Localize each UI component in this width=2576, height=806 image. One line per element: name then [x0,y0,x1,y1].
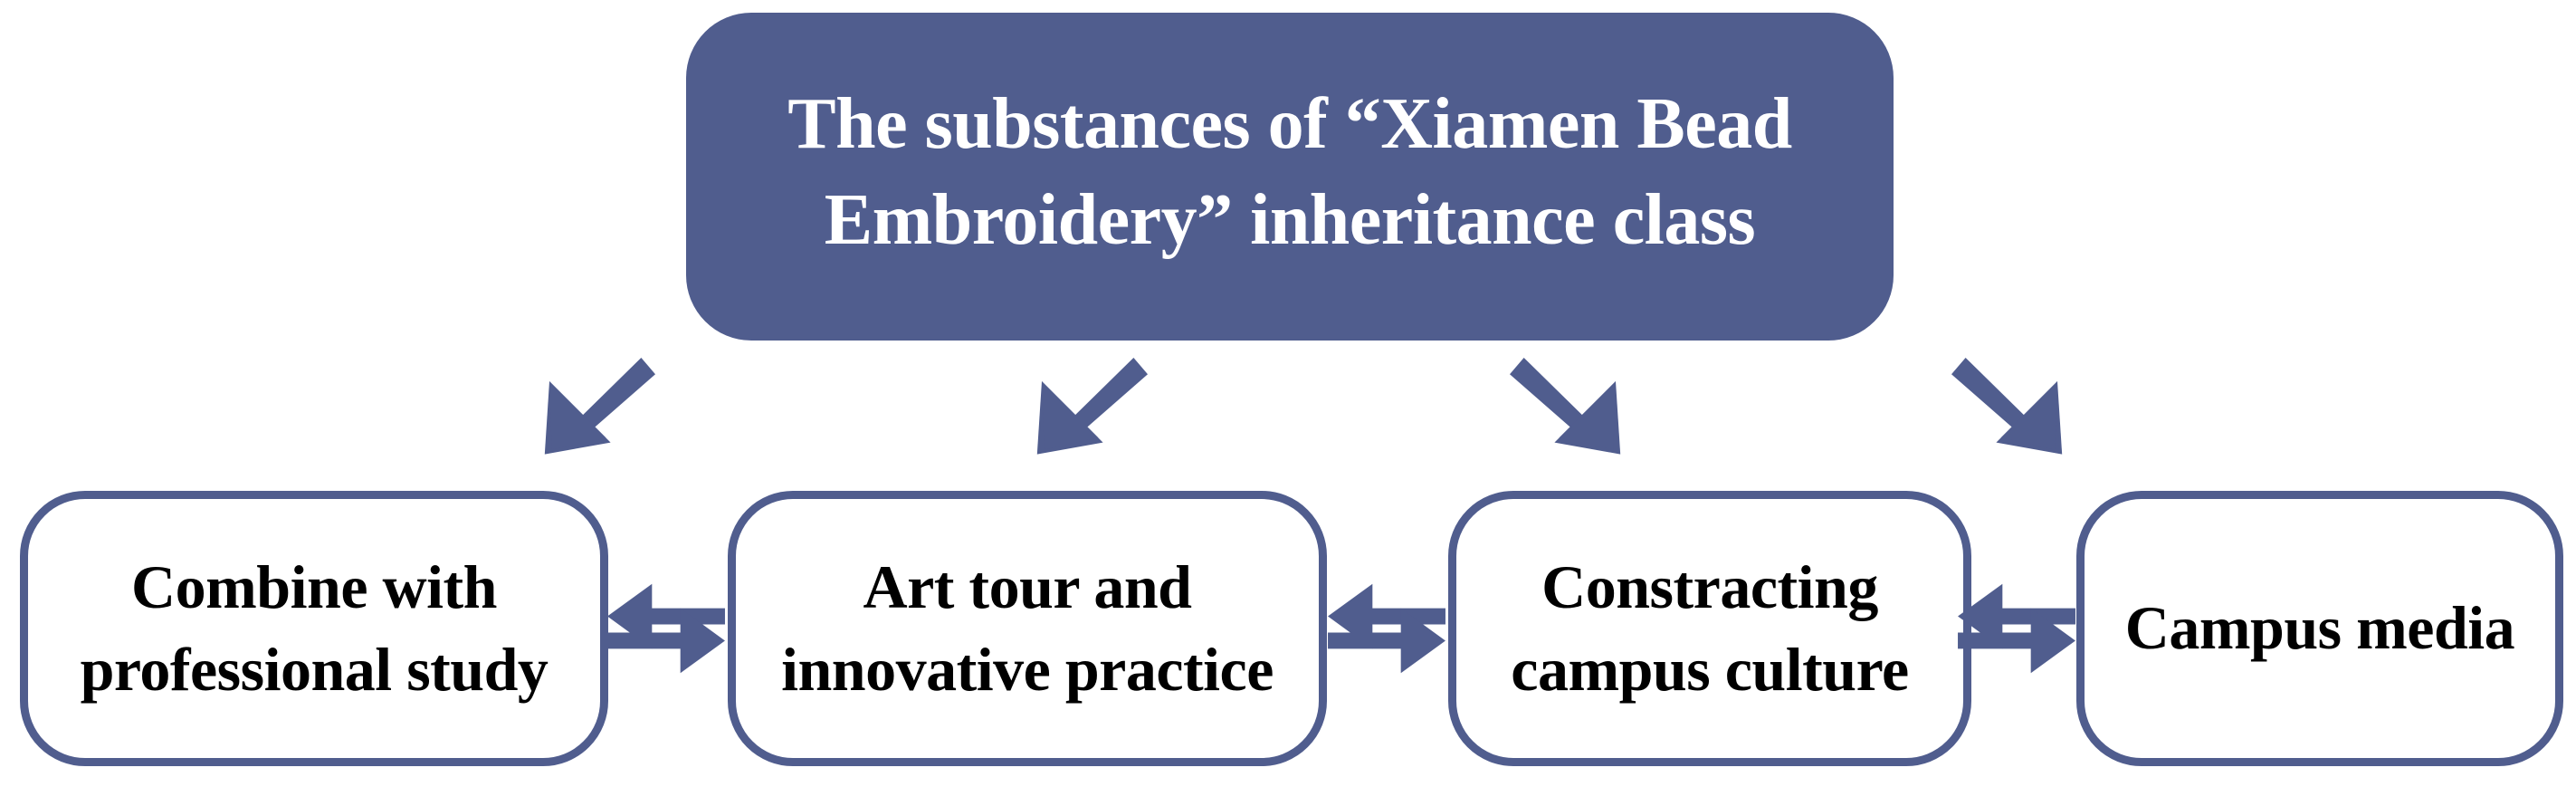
leaf-node-combine-with-professional-study[interactable]: Combine with professional study [20,491,608,766]
arrow-down-right-icon [1951,346,2069,464]
leaf-node-constracting-campus-culture[interactable]: Constracting campus culture [1448,491,1971,766]
leaf-node-label: Combine with professional study [81,546,549,711]
leaf-node-label: Campus media [2125,587,2514,669]
leaf-node-art-tour-and-innovative-practice[interactable]: Art tour and innovative practice [728,491,1327,766]
leaf-node-label: Constracting campus culture [1511,546,1908,711]
exchange-arrows-icon [1325,578,1448,679]
leaf-node-label: Art tour and innovative practice [781,546,1274,711]
exchange-arrows-icon [605,578,728,679]
leaf-node-campus-media[interactable]: Campus media [2076,491,2563,766]
root-node-substances[interactable]: The substances of “Xiamen Bead Embroider… [686,13,1894,341]
arrow-down-right-icon [1510,346,1627,464]
exchange-arrows-icon [1955,578,2078,679]
arrow-down-left-icon [538,346,655,464]
arrow-down-left-icon [1030,346,1148,464]
root-node-label: The substances of “Xiamen Bead Embroider… [787,77,1792,268]
diagram-canvas: The substances of “Xiamen Bead Embroider… [0,0,2576,806]
